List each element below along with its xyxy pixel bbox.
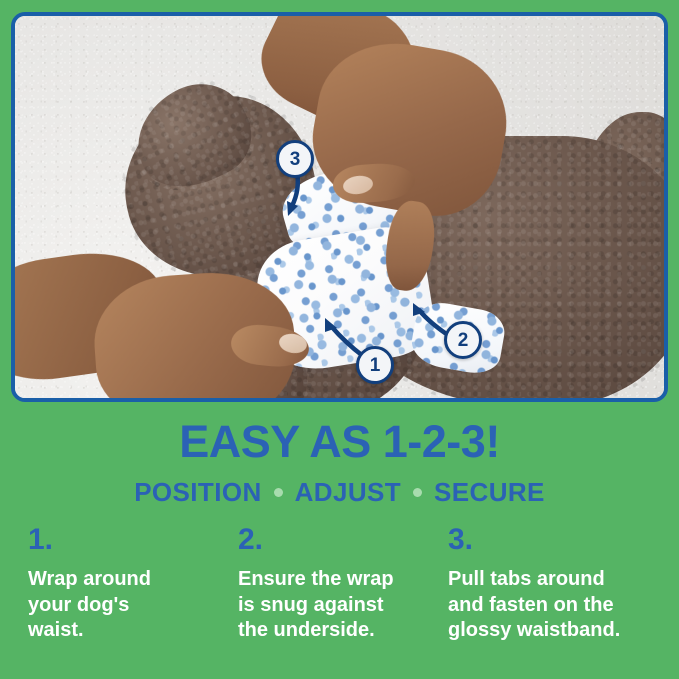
- step-line: Wrap around: [28, 567, 238, 593]
- subheadline: POSITION ADJUST SECURE: [0, 477, 679, 508]
- step-text-2: Ensure the wrap is snug against the unde…: [238, 567, 448, 644]
- subheadline-item-adjust: ADJUST: [295, 477, 401, 508]
- step-item-1: 1. Wrap around your dog's waist.: [28, 525, 238, 644]
- step-line: your dog's: [28, 593, 238, 619]
- bullet-dot-icon: [274, 488, 283, 497]
- step-item-3: 3. Pull tabs around and fasten on the gl…: [448, 525, 658, 644]
- bullet-dot-icon: [413, 488, 422, 497]
- step-line: waist.: [28, 618, 238, 644]
- step-line: glossy waistband.: [448, 618, 658, 644]
- step-number-3: 3.: [448, 525, 658, 555]
- instructional-poster: 1 2 3 EASY AS 1-2-3! POSITION ADJUST SEC…: [0, 0, 679, 679]
- step-line: Ensure the wrap: [238, 567, 448, 593]
- headline: EASY AS 1-2-3!: [0, 416, 679, 468]
- step-line: and fasten on the: [448, 593, 658, 619]
- subheadline-item-position: POSITION: [134, 477, 261, 508]
- step-line: the underside.: [238, 618, 448, 644]
- product-demo-photo: 1 2 3: [15, 16, 664, 398]
- step-text-1: Wrap around your dog's waist.: [28, 567, 238, 644]
- steps-list: 1. Wrap around your dog's waist. 2. Ensu…: [28, 525, 658, 644]
- callout-badge-2: 2: [444, 321, 482, 359]
- step-number-2: 2.: [238, 525, 448, 555]
- step-item-2: 2. Ensure the wrap is snug against the u…: [238, 525, 448, 644]
- callout-badge-3: 3: [276, 140, 314, 178]
- photo-frame: 1 2 3: [11, 12, 668, 402]
- step-line: is snug against: [238, 593, 448, 619]
- subheadline-item-secure: SECURE: [434, 477, 545, 508]
- step-line: Pull tabs around: [448, 567, 658, 593]
- step-text-3: Pull tabs around and fasten on the gloss…: [448, 567, 658, 644]
- step-number-1: 1.: [28, 525, 238, 555]
- callout-badge-1: 1: [356, 346, 394, 384]
